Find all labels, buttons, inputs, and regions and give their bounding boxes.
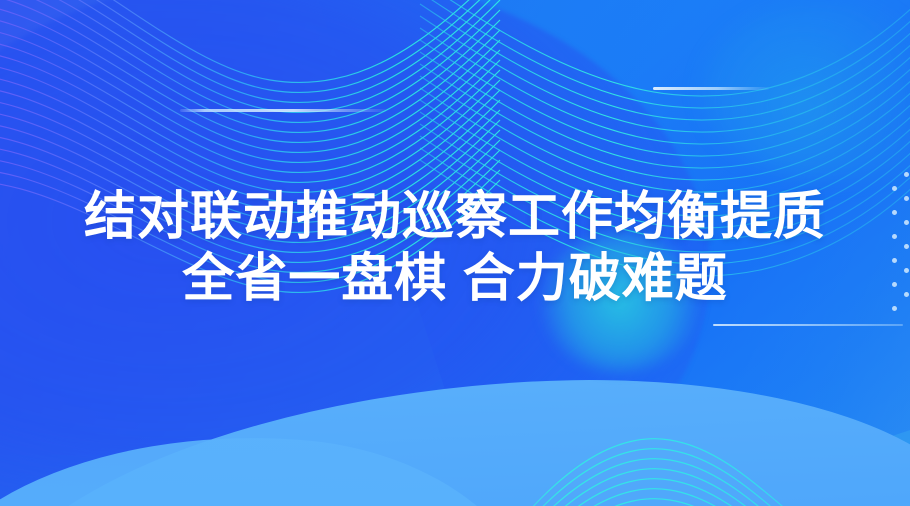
banner-hero: 结对联动推动巡察工作均衡提质 全省一盘棋 合力破难题 xyxy=(0,0,910,506)
headline-line-1: 结对联动推动巡察工作均衡提质 xyxy=(0,186,910,248)
headline-line-2: 全省一盘棋 合力破难题 xyxy=(0,248,910,310)
dot xyxy=(904,172,909,177)
headline-block: 结对联动推动巡察工作均衡提质 全省一盘棋 合力破难题 xyxy=(0,186,910,310)
highlight-rule-bottom-right xyxy=(713,324,903,326)
highlight-rule-left xyxy=(180,109,386,112)
highlight-rule-top-right xyxy=(653,87,769,90)
cyan-glow-top-right xyxy=(700,0,910,180)
